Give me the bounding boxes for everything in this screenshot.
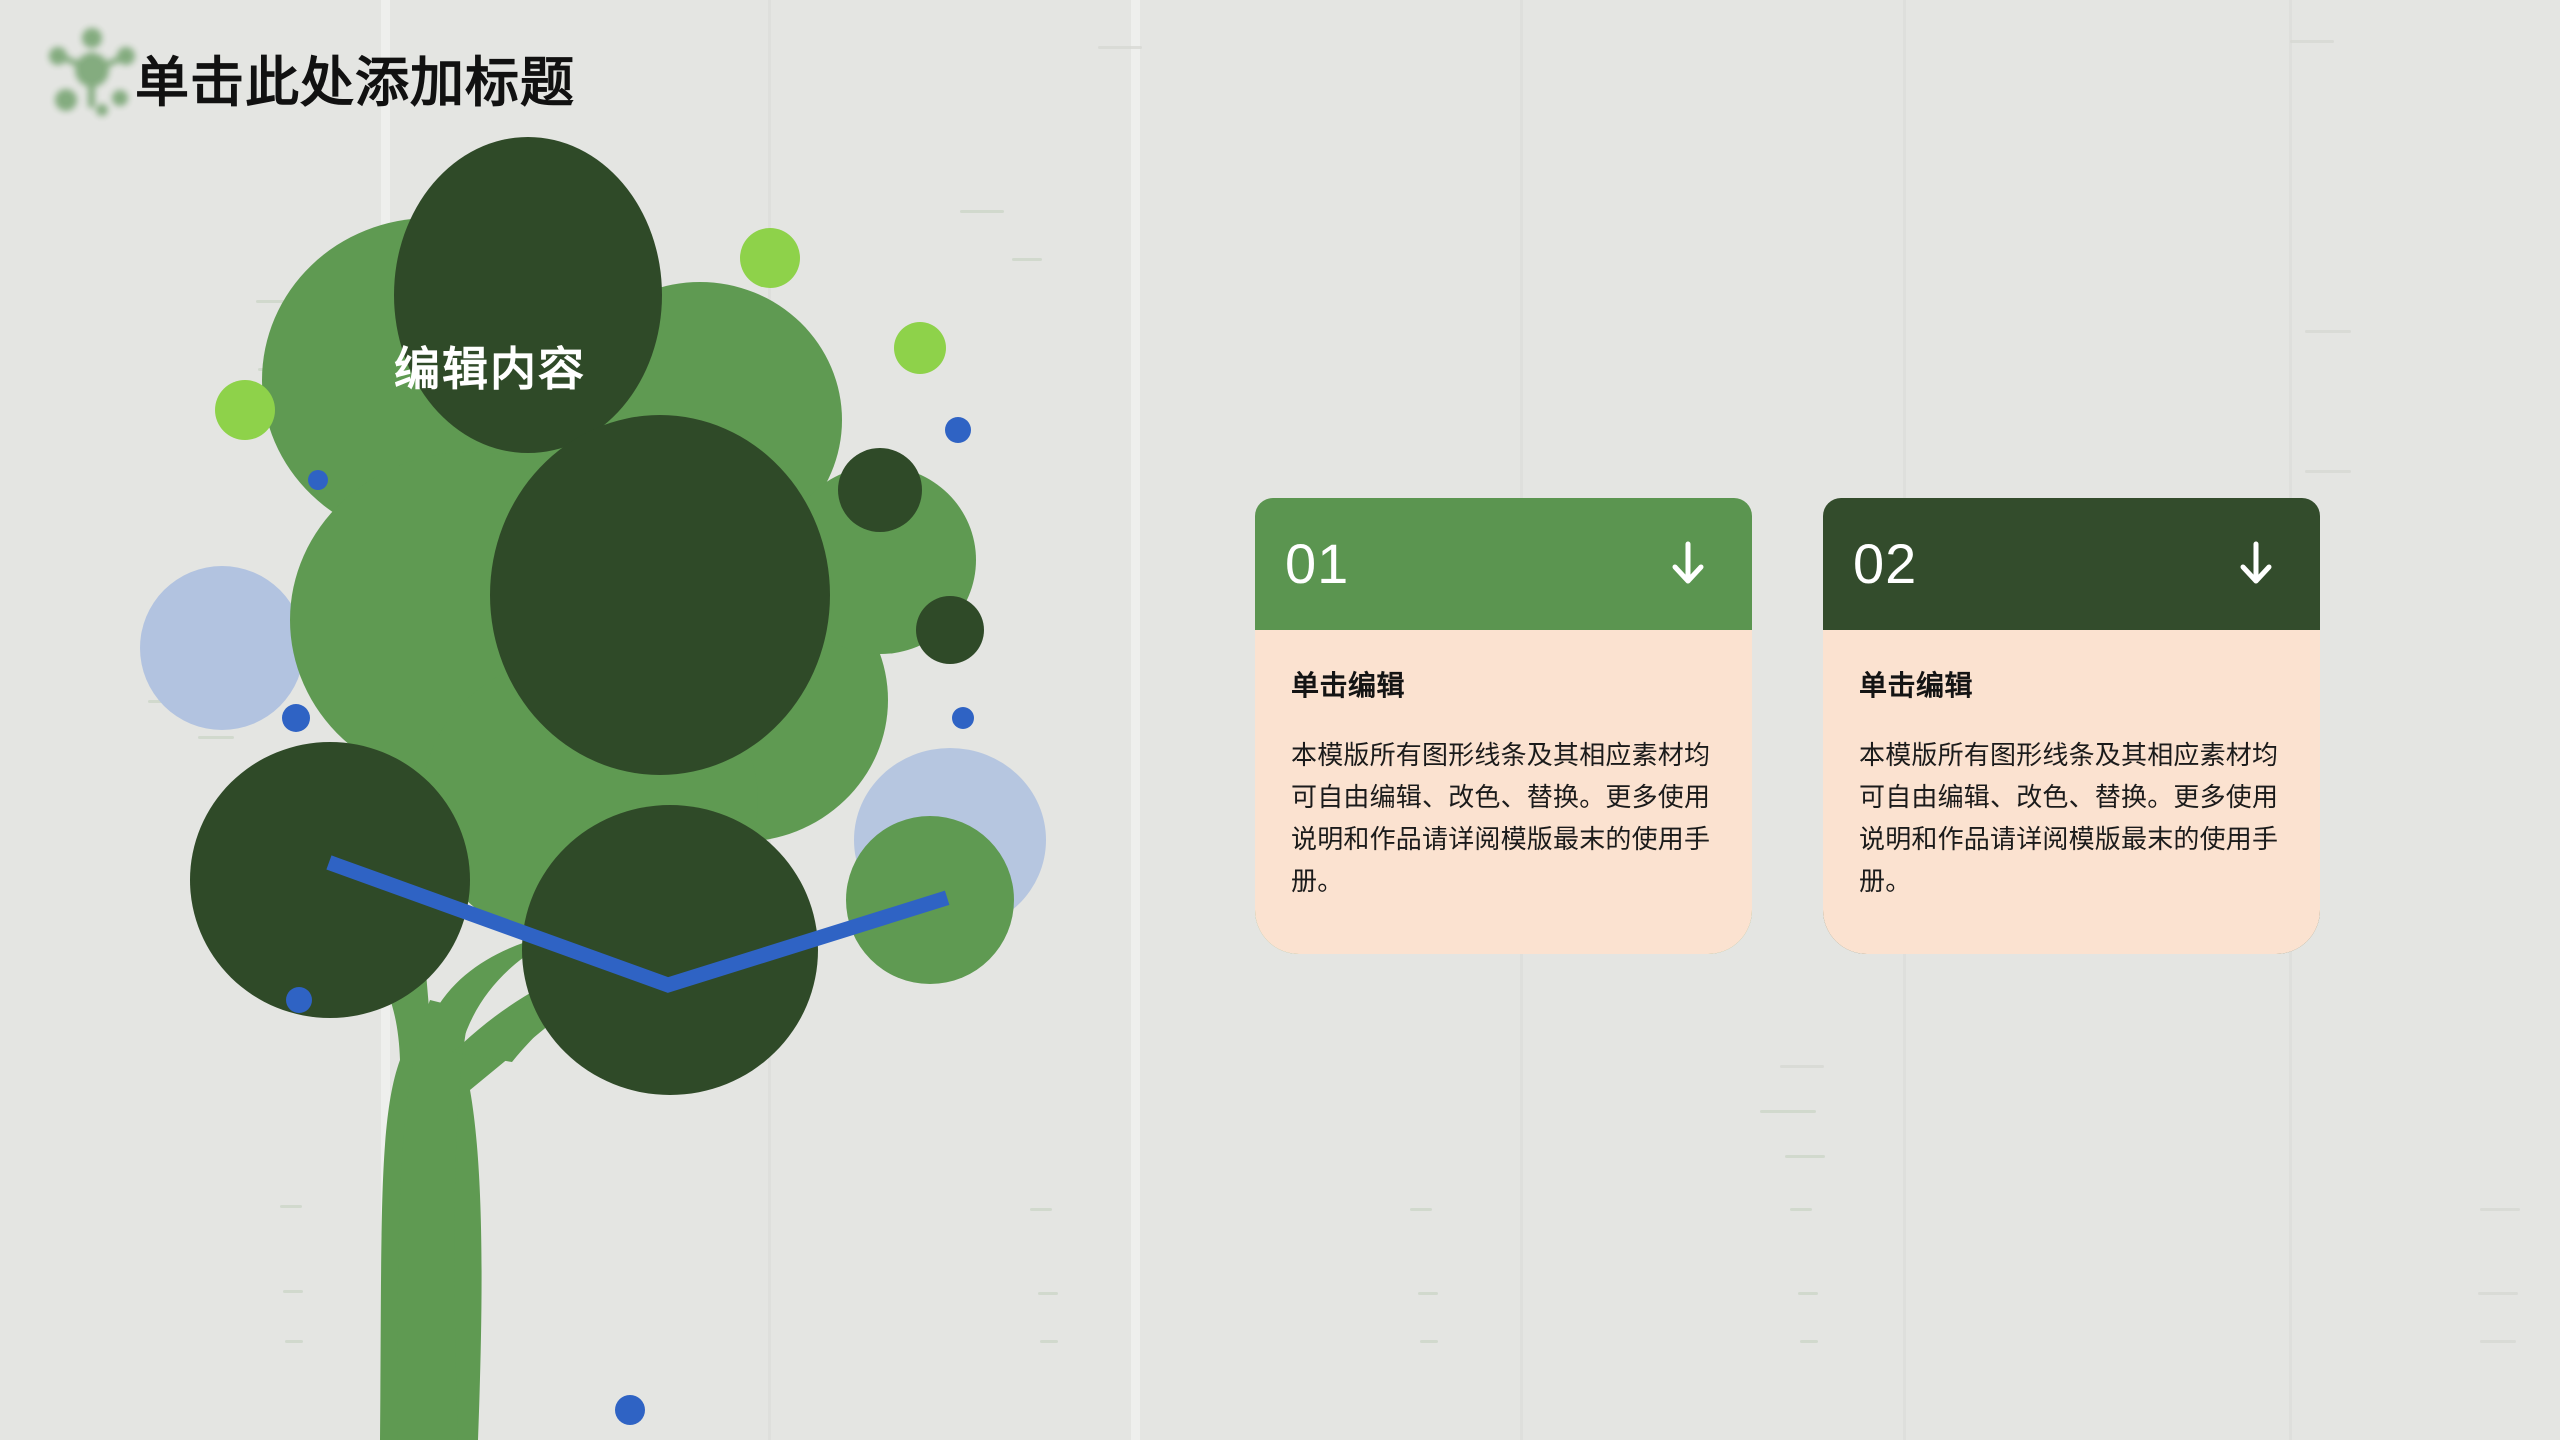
bg-dash <box>1418 1292 1438 1295</box>
card-subtitle: 单击编辑 <box>1291 664 1716 704</box>
card-description: 本模版所有图形线条及其相应素材均可自由编辑、改色、替换。更多使用说明和作品请详阅… <box>1291 734 1716 902</box>
page-title: 单击此处添加标题 <box>135 38 575 117</box>
info-card-02[interactable]: 02 单击编辑 本模版所有图形线条及其相应素材均可自由编辑、改色、替换。更多使用… <box>1823 498 2320 954</box>
tree-illustration: 编辑内容 <box>0 0 1200 1440</box>
bg-dash <box>1420 1340 1438 1343</box>
card-number: 01 <box>1285 536 1349 592</box>
card-body: 单击编辑 本模版所有图形线条及其相应素材均可自由编辑、改色、替换。更多使用说明和… <box>1823 630 2320 954</box>
arrow-down-icon[interactable] <box>1668 541 1708 587</box>
bg-dash <box>2305 330 2351 333</box>
bg-dash <box>2305 470 2351 473</box>
info-card-01[interactable]: 01 单击编辑 本模版所有图形线条及其相应素材均可自由编辑、改色、替换。更多使用… <box>1255 498 1752 954</box>
bg-dash <box>1790 1208 1812 1211</box>
bg-dash <box>1780 1065 1824 1068</box>
bg-dash <box>2480 1208 2520 1211</box>
bg-dash <box>2290 40 2334 43</box>
card-header: 02 <box>1823 498 2320 630</box>
bg-dash <box>1760 1110 1816 1113</box>
card-number: 02 <box>1853 536 1917 592</box>
card-header: 01 <box>1255 498 1752 630</box>
bg-dash <box>2480 1340 2516 1343</box>
bg-dash <box>1798 1292 1818 1295</box>
bg-dash <box>1800 1340 1818 1343</box>
card-description: 本模版所有图形线条及其相应素材均可自由编辑、改色、替换。更多使用说明和作品请详阅… <box>1859 734 2284 902</box>
arrow-down-icon[interactable] <box>2236 541 2276 587</box>
card-body: 单击编辑 本模版所有图形线条及其相应素材均可自由编辑、改色、替换。更多使用说明和… <box>1255 630 1752 954</box>
bg-dash <box>1785 1155 1825 1158</box>
tree-graphic <box>0 0 1200 1440</box>
slide-canvas: 单击此处添加标题 <box>0 0 2560 1440</box>
card-subtitle: 单击编辑 <box>1859 664 2284 704</box>
bg-dash <box>1410 1208 1432 1211</box>
bg-dash <box>2478 1292 2518 1295</box>
